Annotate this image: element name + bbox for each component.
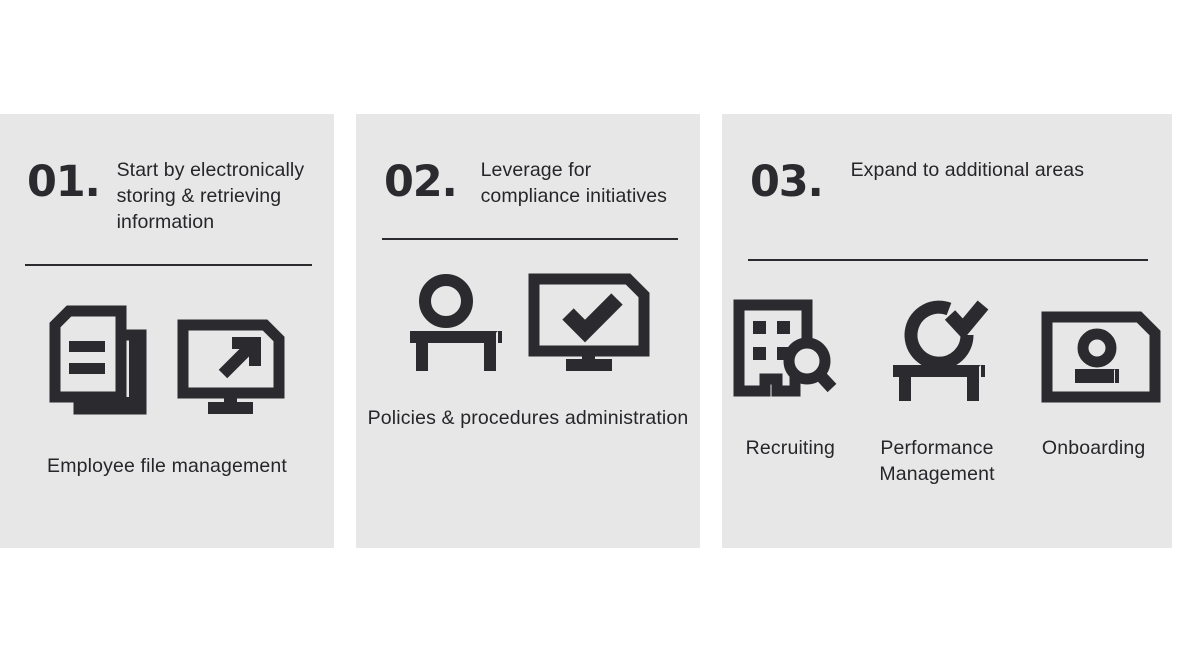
icon-cell-documents <box>49 305 147 415</box>
card-header-01: 01. Start by electronically storing & re… <box>0 114 334 235</box>
card-header-03: 03. Expand to additional areas <box>722 114 1172 204</box>
step-title-02: Leverage for compliance initiatives <box>481 157 680 209</box>
monitor-checkmark-icon <box>528 273 650 373</box>
building-search-icon <box>733 299 839 403</box>
icon-cell-person-desk <box>406 273 506 373</box>
labels-row-03: Recruiting Performance Management Onboar… <box>722 403 1172 487</box>
card-gap-2 <box>700 114 722 548</box>
icon-label-performance-management: Performance Management <box>862 435 1012 487</box>
icons-row-01 <box>0 266 334 415</box>
step-title-01: Start by electronically storing & retrie… <box>117 157 314 235</box>
icon-label-policies-procedures-administration: Policies & procedures administration <box>368 405 689 431</box>
step-card-01: 01. Start by electronically storing & re… <box>0 114 334 548</box>
person-at-desk-icon <box>406 273 506 373</box>
step-title-03: Expand to additional areas <box>851 157 1152 183</box>
infographic-board: 01. Start by electronically storing & re… <box>0 0 1180 663</box>
icon-cell-circle-check-desk <box>887 293 993 403</box>
labels-row-01: Employee file management <box>0 415 334 479</box>
icons-row-02 <box>356 240 700 373</box>
step-number-02: 02. <box>384 161 457 204</box>
step-number-01: 01. <box>27 161 100 204</box>
card-header-02: 02. Leverage for compliance initiatives <box>356 114 700 209</box>
step-card-03: 03. Expand to additional areas <box>722 114 1172 548</box>
card-gap-1 <box>334 114 356 548</box>
icon-cell-building-search <box>733 299 839 403</box>
icon-cell-monitor-arrow <box>177 319 285 415</box>
step-card-02: 02. Leverage for compliance initiatives <box>356 114 700 548</box>
labels-row-02: Policies & procedures administration <box>356 373 700 431</box>
circle-check-desk-icon <box>887 293 993 403</box>
icon-label-employee-file-management: Employee file management <box>47 453 287 479</box>
step-number-03: 03. <box>750 161 823 204</box>
icon-label-recruiting: Recruiting <box>725 435 855 461</box>
icon-label-onboarding: Onboarding <box>1019 435 1169 461</box>
icon-cell-monitor-check <box>528 273 650 373</box>
documents-stack-icon <box>49 305 147 415</box>
icons-row-03 <box>722 261 1172 403</box>
framed-person-icon <box>1041 311 1161 403</box>
icon-cell-framed-person <box>1041 311 1161 403</box>
cards-row: 01. Start by electronically storing & re… <box>0 114 1180 548</box>
monitor-arrow-icon <box>177 319 285 415</box>
